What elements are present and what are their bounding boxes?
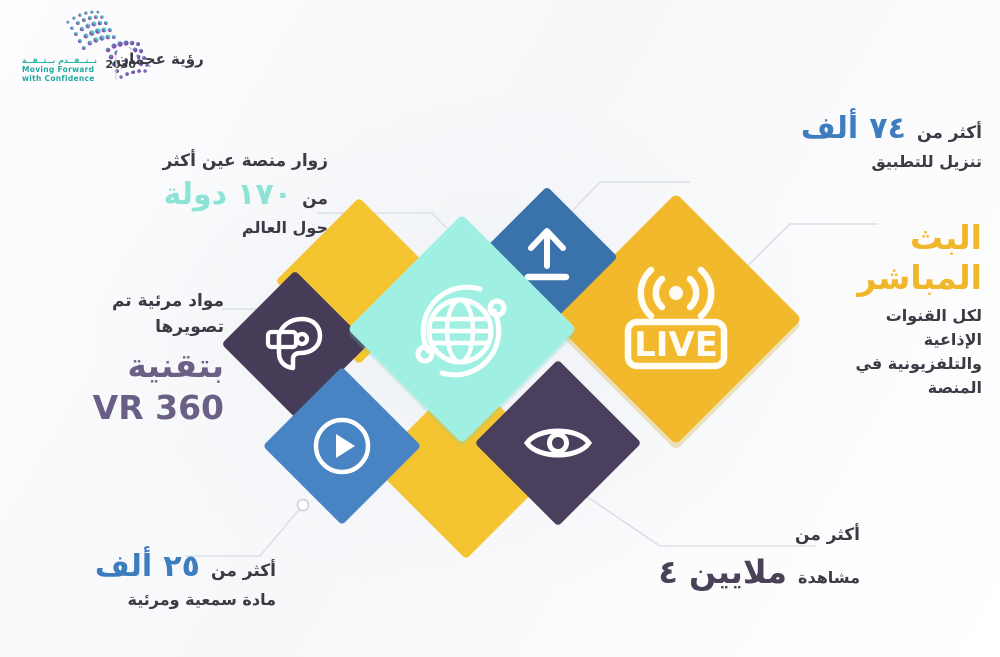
- stat-downloads: أكثر من ٧٤ ألف تنزيل للتطبيق: [582, 110, 982, 174]
- svg-text:2030: 2030: [105, 58, 136, 71]
- stat-live-title-line2: المباشر: [820, 258, 982, 298]
- stat-live-caption-line3: والتلفزيونية في: [820, 352, 982, 376]
- stat-live-title-line1: البث: [820, 218, 982, 258]
- stat-vr-tech: VR 360: [46, 388, 224, 428]
- stat-live: البث المباشر لكل القنوات الإذاعية والتلف…: [820, 218, 982, 400]
- ajman-vision-logo: رؤية عجمان 2030 نــتــقــدم بــثــقــة M…: [8, 4, 218, 100]
- stat-countries-headline: من ١٧٠ دولة: [96, 176, 328, 214]
- stat-downloads-number: ٧٤: [869, 111, 906, 146]
- stat-countries-prefix: من: [302, 189, 328, 209]
- stat-live-caption-line1: لكل القنوات: [820, 304, 982, 328]
- live-label: LIVE: [634, 325, 718, 365]
- stat-live-caption-line2: الإذاعية: [820, 328, 982, 352]
- stat-media-prefix: أكثر من: [211, 561, 276, 581]
- globe-network-icon: [406, 273, 518, 385]
- stat-views-unit: ملايين: [689, 553, 787, 591]
- stat-countries-number: ١٧٠: [237, 177, 292, 212]
- logo-mark: رؤية عجمان 2030: [8, 4, 218, 100]
- play-button-icon: [310, 414, 374, 478]
- stat-live-caption-line4: المنصة: [820, 376, 982, 400]
- logo-tagline-english: Moving Forward with Confidence: [22, 66, 95, 83]
- stat-countries-caption: حول العالم: [96, 216, 328, 240]
- eye-icon: [522, 421, 594, 465]
- logo-tagline-arabic: نــتــقــدم بــثــقــة: [22, 56, 97, 65]
- stat-countries: زوار منصة عين أكثر من ١٧٠ دولة حول العال…: [96, 148, 328, 240]
- stat-views-prefix: أكثر من: [560, 522, 860, 548]
- stat-media-caption: مادة سمعية ومرئية: [26, 588, 276, 612]
- stat-downloads-unit: ألف: [801, 111, 858, 146]
- stat-vr-line2: تصويرها: [46, 314, 224, 340]
- stat-views-headline: مشاهدة ملايين ٤: [560, 552, 860, 592]
- stat-views: أكثر من مشاهدة ملايين ٤: [560, 522, 860, 592]
- logo-tagline-en-line2: with Confidence: [22, 75, 95, 84]
- stat-countries-line1: زوار منصة عين أكثر: [96, 148, 328, 174]
- stat-vr-highlight: بتقنية: [46, 346, 224, 386]
- stat-media-headline: أكثر من ٢٥ ألف: [26, 548, 276, 586]
- stat-views-caption: مشاهدة: [798, 568, 860, 587]
- infographic-canvas: رؤية عجمان 2030 نــتــقــدم بــثــقــة M…: [0, 0, 1000, 657]
- stat-media: أكثر من ٢٥ ألف مادة سمعية ومرئية: [26, 548, 276, 612]
- live-broadcast-icon: LIVE: [614, 265, 738, 373]
- vr-headset-icon: [262, 313, 328, 375]
- stat-vr-line1: مواد مرئية تم: [46, 288, 224, 314]
- stat-media-unit: ألف: [95, 549, 152, 584]
- stat-downloads-prefix: أكثر من: [917, 123, 982, 143]
- stat-views-number: ٤: [658, 553, 678, 591]
- stat-vr: مواد مرئية تم تصويرها بتقنية VR 360: [46, 288, 224, 428]
- stat-downloads-headline: أكثر من ٧٤ ألف: [582, 110, 982, 148]
- stat-media-number: ٢٥: [163, 549, 200, 584]
- stat-countries-unit: دولة: [164, 177, 228, 212]
- logo-wordmark: رؤية عجمان 2030: [105, 50, 203, 71]
- stat-downloads-caption: تنزيل للتطبيق: [582, 150, 982, 174]
